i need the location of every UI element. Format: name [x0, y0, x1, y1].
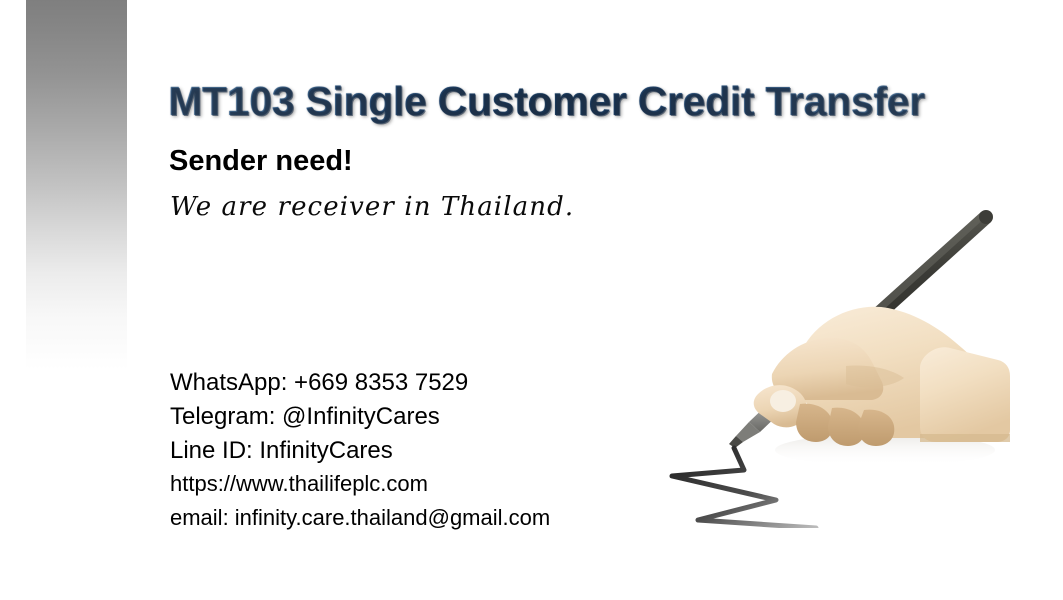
contact-line-whatsapp: WhatsApp: +669 8353 7529: [170, 371, 550, 395]
thumbnail-highlight: [770, 390, 796, 412]
contact-info-block: WhatsApp: +669 8353 7529 Telegram: @Infi…: [170, 371, 550, 541]
contact-line-email[interactable]: email: infinity.care.thailand@gmail.com: [170, 507, 550, 529]
contact-line-telegram: Telegram: @InfinityCares: [170, 405, 550, 429]
slide-canvas: MT103 Single Customer Credit Transfer Se…: [0, 0, 1063, 600]
page-title-text: MT103 Single Customer Credit Transfer: [168, 78, 925, 124]
page-title: MT103 Single Customer Credit Transfer: [168, 78, 925, 125]
script-subtitle-text: We are receiver in Thailand.: [170, 192, 574, 222]
wrist-shape: [920, 347, 1010, 442]
headline-text: Sender need!: [169, 145, 353, 178]
contact-line-lineid: Line ID: InfinityCares: [170, 439, 550, 463]
contact-line-website[interactable]: https://www.thailifeplc.com: [170, 473, 550, 495]
signature-squiggle: [672, 448, 816, 528]
hand-writing-illustration: [650, 198, 1030, 528]
left-gradient-band: [26, 0, 127, 370]
